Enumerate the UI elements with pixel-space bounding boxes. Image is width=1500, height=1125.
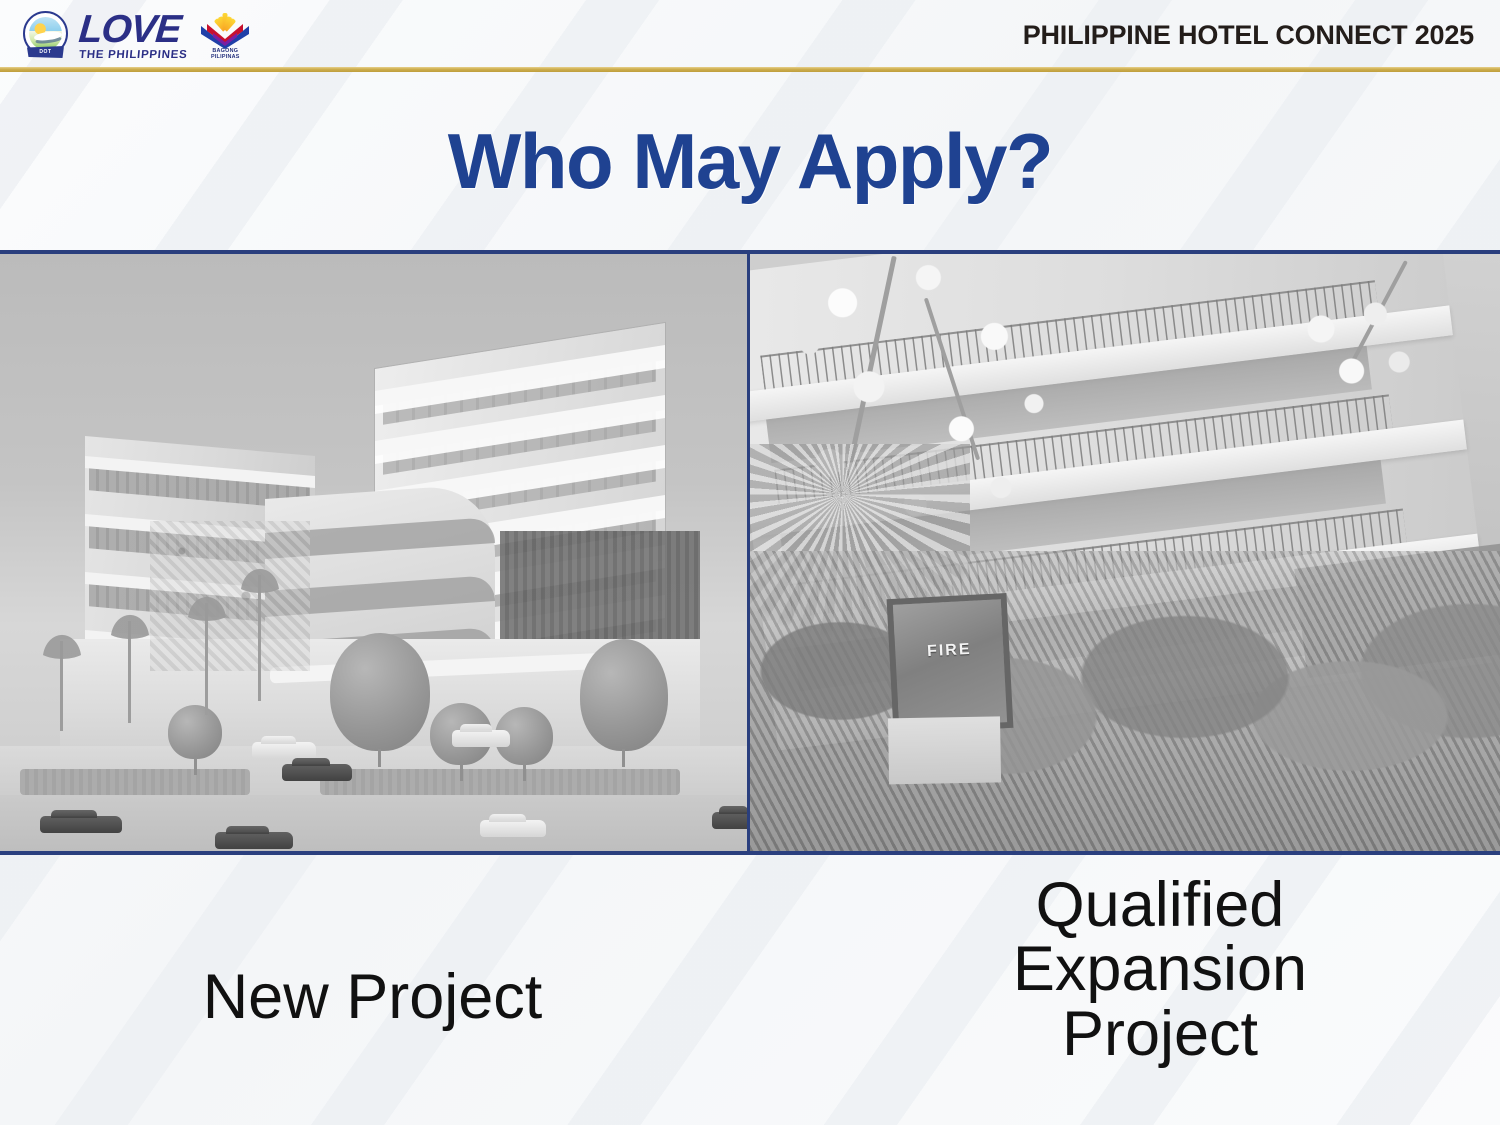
title-band: Who May Apply?: [0, 72, 1500, 250]
love-wordmark: LOVE: [77, 10, 189, 49]
image-strip: FIRE: [0, 250, 1500, 855]
rendered-car-1: [40, 816, 122, 833]
rendered-car-3: [480, 820, 546, 837]
bagong-pilipinas-subtitle: BAGONG PILIPINAS: [197, 48, 253, 60]
slide: DOT LOVE THE PHILIPPINES: [0, 0, 1500, 1125]
header-gold-divider: [0, 67, 1500, 72]
slide-header: DOT LOVE THE PHILIPPINES: [0, 0, 1500, 70]
love-wordmark-subtitle: THE PHILIPPINES: [78, 50, 187, 62]
caption-row: New Project Qualified Expansion Project: [0, 855, 1500, 1125]
expansion-project-photo: FIRE: [750, 254, 1500, 851]
rendered-car-4: [252, 742, 316, 759]
rendered-car-2: [215, 832, 293, 849]
caption-line-3: Project: [900, 1002, 1420, 1066]
rendered-car-6: [452, 730, 510, 747]
rendered-palm-4: [258, 575, 261, 701]
rendered-hedge-right: [320, 769, 680, 795]
panel-new-project-image: [0, 254, 750, 851]
caption-line-1: Qualified: [900, 873, 1420, 937]
event-title: PHILIPPINE HOTEL CONNECT 2025: [1023, 20, 1474, 51]
caption-qualified-expansion-project: Qualified Expansion Project: [900, 873, 1420, 1066]
rendered-palm-3: [205, 603, 208, 715]
rendered-car-7: [712, 812, 750, 829]
page-title: Who May Apply?: [448, 116, 1052, 207]
rendered-tree-2: [580, 639, 668, 751]
panel-expansion-project-image: FIRE: [750, 254, 1500, 851]
brand-cluster: DOT LOVE THE PHILIPPINES: [22, 9, 253, 62]
caption-new-project: New Project: [100, 965, 645, 1029]
dot-seal-icon: DOT: [22, 10, 69, 60]
bagong-pilipinas-logo: BAGONG PILIPINAS: [197, 10, 253, 60]
rendered-car-5: [282, 764, 352, 781]
rendered-palm-2: [128, 621, 131, 723]
love-the-philippines-logo: LOVE THE PHILIPPINES: [79, 9, 187, 62]
dot-seal-ribbon-label: DOT: [27, 46, 64, 58]
rendered-hedge-left: [20, 769, 250, 795]
rendered-palm-1: [60, 641, 63, 731]
caption-line-2: Expansion: [900, 937, 1420, 1001]
garden-shrubs: [750, 551, 1500, 851]
fire-signboard: FIRE: [887, 593, 1014, 734]
frangipani-sprig: [1270, 284, 1440, 434]
chevron-emblem-icon: [199, 23, 251, 49]
rendered-shrub-3: [168, 705, 222, 759]
new-project-rendering: [0, 254, 747, 851]
rendered-tree-1: [330, 633, 430, 751]
